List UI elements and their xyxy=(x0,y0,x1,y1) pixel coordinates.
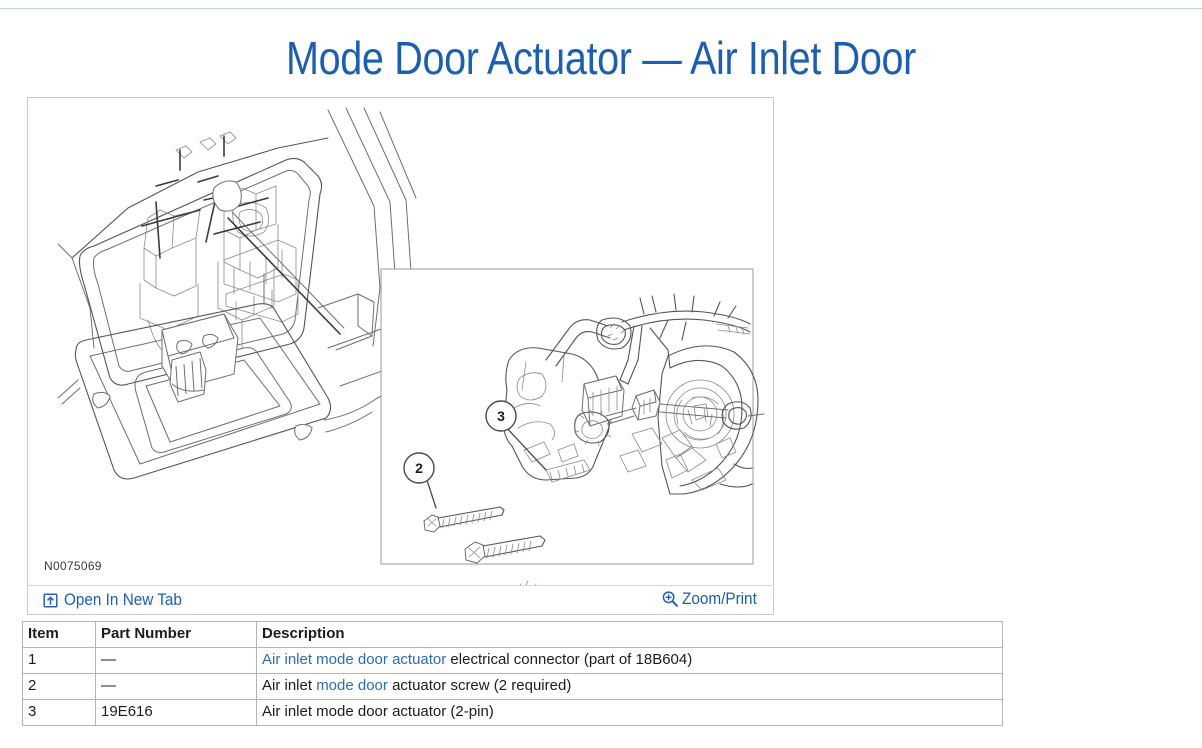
cell-item: 1 xyxy=(23,648,96,674)
zoom-print-label: Zoom/Print xyxy=(682,588,757,610)
zoom-print-button[interactable]: Zoom/Print xyxy=(661,588,765,610)
description-link[interactable]: mode door xyxy=(316,677,388,694)
callout-3: 3 xyxy=(486,401,516,431)
cell-description: Air inlet mode door actuator (2-pin) xyxy=(257,700,1003,726)
table-row: 3 19E616 Air inlet mode door actuator (2… xyxy=(23,700,1003,726)
cell-part-number: — xyxy=(96,674,257,700)
glove-box-assembly xyxy=(58,108,416,479)
figure-panel: 3 2 1 N0075069 Open In New Tab xyxy=(27,97,774,615)
cell-description: Air inlet mode door actuator electrical … xyxy=(257,648,1003,674)
cell-item: 2 xyxy=(23,674,96,700)
description-text: electrical connector (part of 18B604) xyxy=(446,651,692,668)
table-row: 1 — Air inlet mode door actuator electri… xyxy=(23,648,1003,674)
column-header-item: Item xyxy=(23,622,96,648)
description-text-pre: Air inlet xyxy=(262,677,316,694)
table-header-row: Item Part Number Description xyxy=(23,622,1003,648)
magnifier-plus-icon xyxy=(661,590,679,608)
cell-part-number: 19E616 xyxy=(96,700,257,726)
cell-part-number: — xyxy=(96,648,257,674)
description-text-pre: Air inlet mode door actuator (2-pin) xyxy=(262,703,494,720)
open-in-new-tab-label: Open In New Tab xyxy=(64,589,182,611)
column-header-description: Description xyxy=(257,622,1003,648)
parts-table: Item Part Number Description 1 — Air inl… xyxy=(22,621,1003,726)
description-text: actuator screw (2 required) xyxy=(388,677,571,694)
external-link-icon xyxy=(43,593,58,608)
column-header-part-number: Part Number xyxy=(96,622,257,648)
figure-id-label: N0075069 xyxy=(44,559,102,573)
svg-text:2: 2 xyxy=(415,460,423,476)
figure-toolbar: Open In New Tab Zoom/Print xyxy=(28,585,773,614)
technical-illustration: 3 2 1 xyxy=(28,98,773,586)
description-link[interactable]: Air inlet mode door actuator xyxy=(262,651,446,668)
cell-description: Air inlet mode door actuator screw (2 re… xyxy=(257,674,1003,700)
top-divider xyxy=(0,8,1202,9)
svg-text:3: 3 xyxy=(497,408,505,424)
callout-2: 2 xyxy=(404,453,434,483)
table-row: 2 — Air inlet mode door actuator screw (… xyxy=(23,674,1003,700)
open-in-new-tab-button[interactable]: Open In New Tab xyxy=(43,589,195,611)
page-title: Mode Door Actuator — Air Inlet Door xyxy=(84,30,1118,86)
inset-detail-box xyxy=(381,269,764,586)
cell-item: 3 xyxy=(23,700,96,726)
